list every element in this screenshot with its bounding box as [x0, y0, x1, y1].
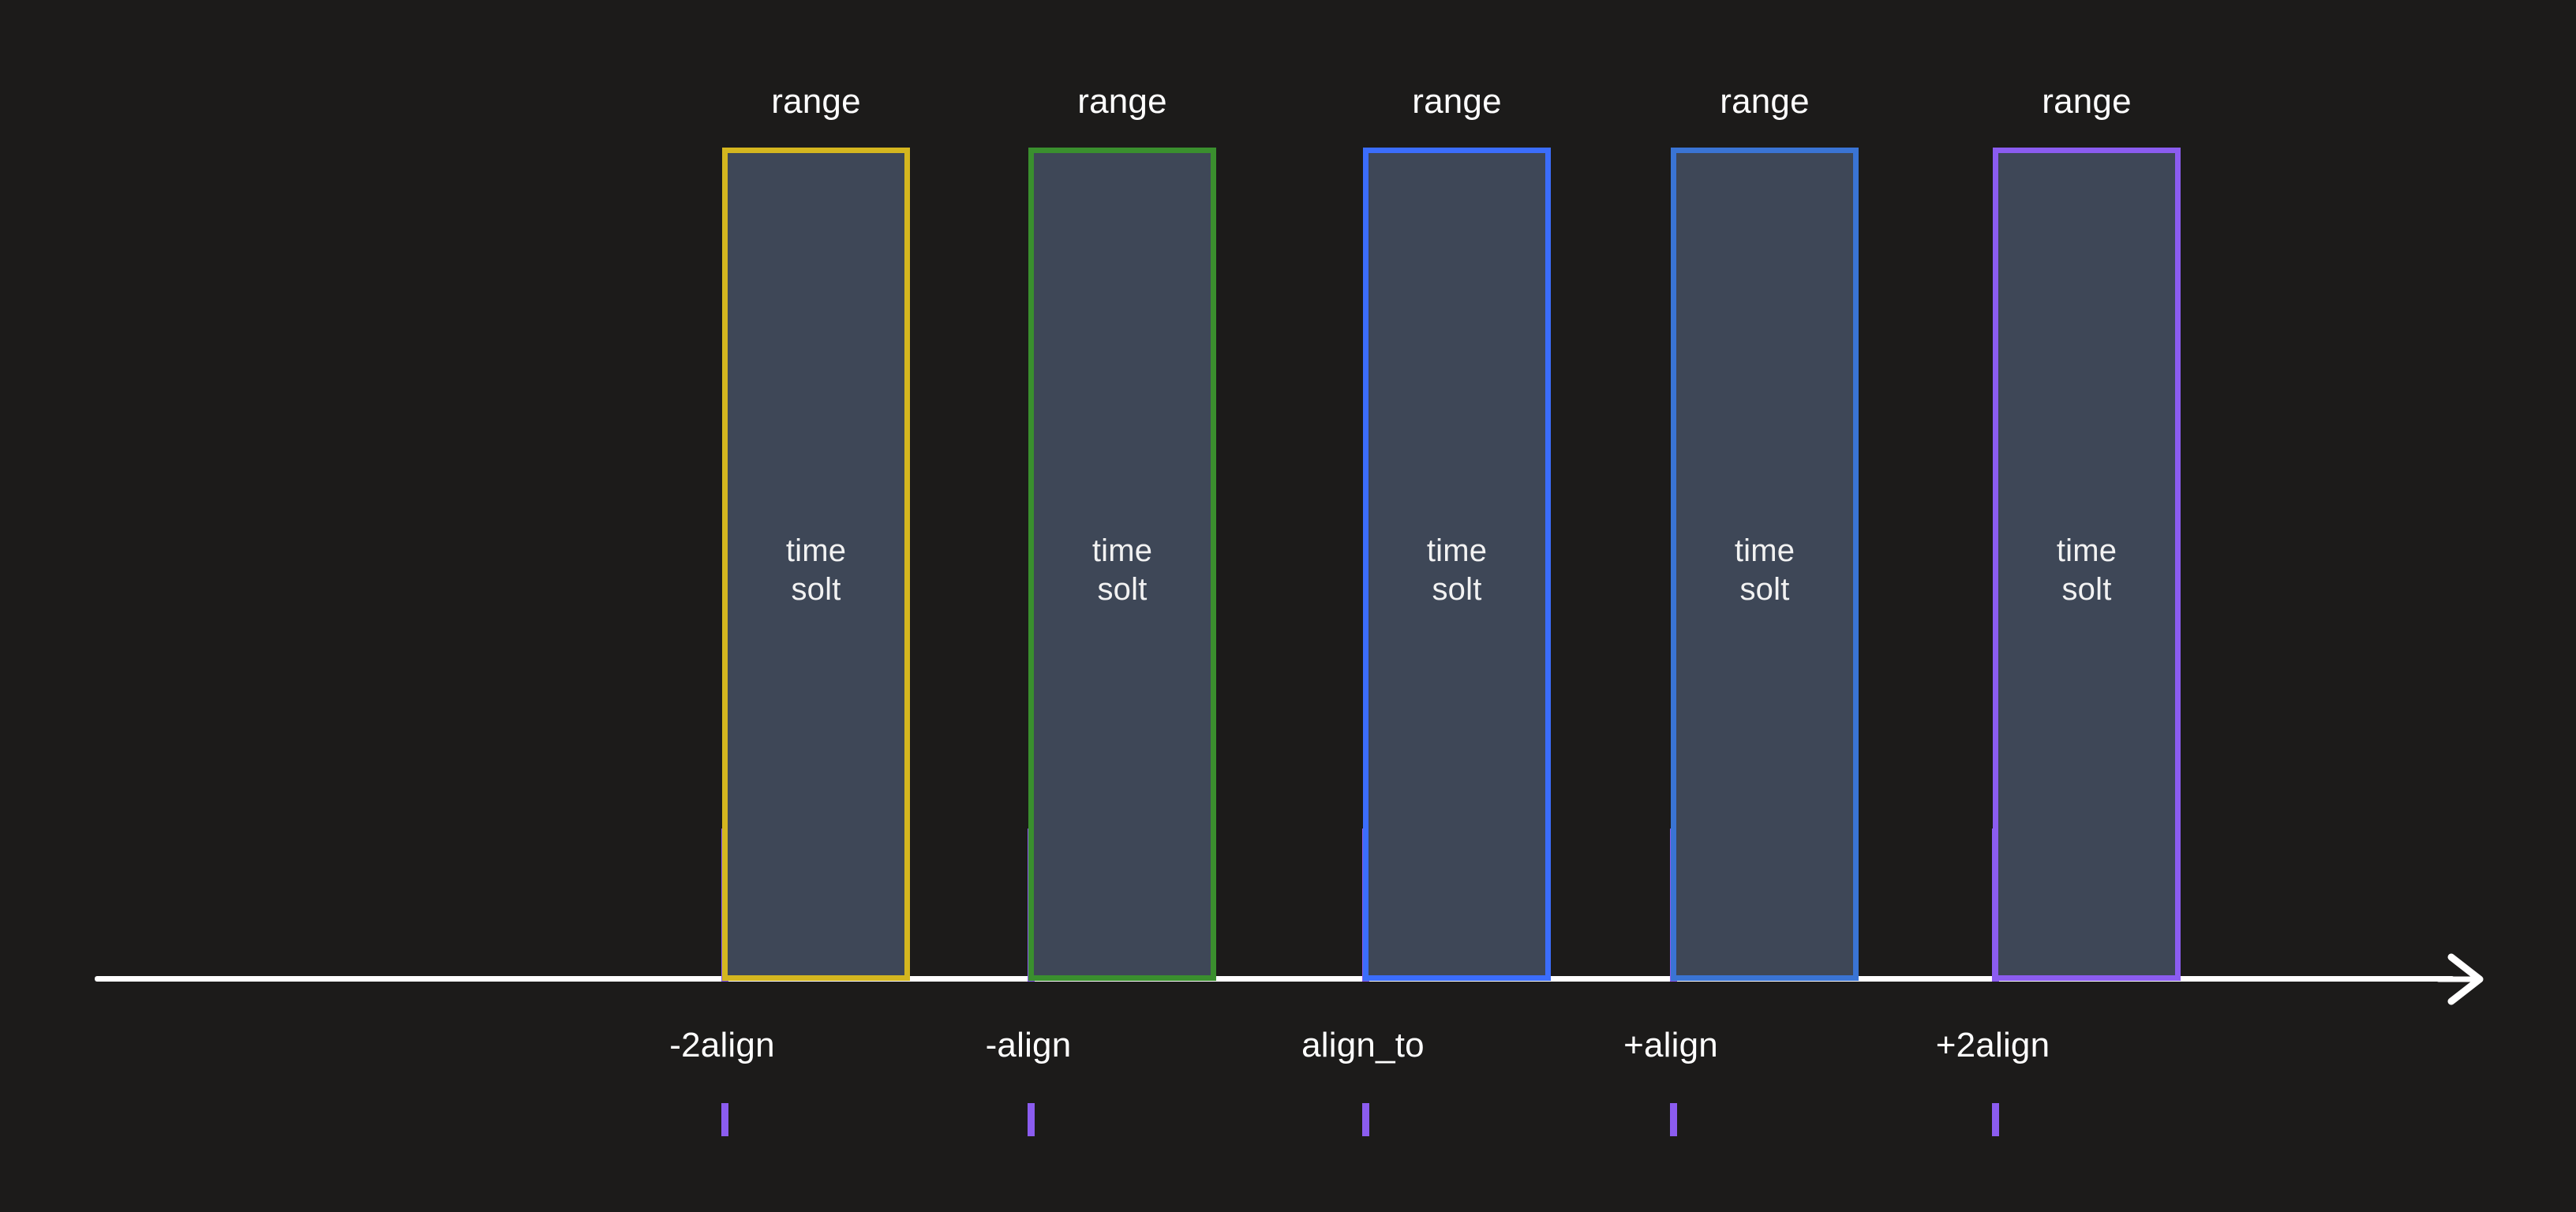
axis-tick-lower — [1670, 1103, 1677, 1136]
time-slot-label: time solt — [1427, 532, 1487, 609]
range-caption: range — [1993, 82, 2181, 122]
range-box[interactable]: time solt — [722, 148, 910, 981]
diagram-canvas: rangetime solt-2alignrangetime solt-alig… — [0, 0, 2576, 1212]
axis-label--align: +align — [1505, 1026, 1837, 1065]
arrow-right-icon — [2423, 943, 2494, 1016]
axis-label--2align: +2align — [1827, 1026, 2159, 1065]
axis-tick-lower — [721, 1103, 728, 1136]
range-caption: range — [1671, 82, 1859, 122]
range-box[interactable]: time solt — [1993, 148, 2181, 981]
time-slot-label: time solt — [2057, 532, 2117, 609]
range-caption: range — [722, 82, 910, 122]
axis-label--2align: -2align — [556, 1026, 888, 1065]
range-box[interactable]: time solt — [1028, 148, 1216, 981]
range-box[interactable]: time solt — [1671, 148, 1859, 981]
range-caption: range — [1028, 82, 1216, 122]
time-slot-label: time solt — [1092, 532, 1152, 609]
time-slot-label: time solt — [1735, 532, 1795, 609]
axis-label-align-to: align_to — [1197, 1026, 1529, 1065]
range-box[interactable]: time solt — [1363, 148, 1551, 981]
time-slot-label: time solt — [786, 532, 846, 609]
axis-tick-lower — [1362, 1103, 1369, 1136]
axis-label--align: -align — [863, 1026, 1194, 1065]
range-caption: range — [1363, 82, 1551, 122]
axis-tick-lower — [1992, 1103, 1999, 1136]
axis-tick-lower — [1028, 1103, 1035, 1136]
